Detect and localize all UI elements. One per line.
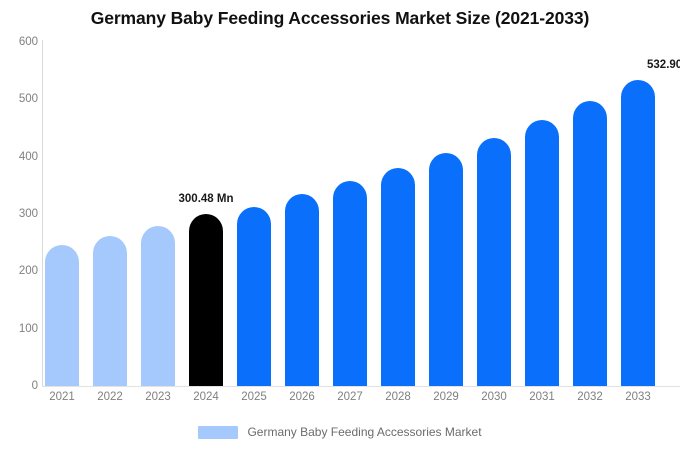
bar-group[interactable] <box>45 42 79 386</box>
legend-swatch-icon <box>198 426 238 439</box>
bar-group[interactable] <box>93 42 127 386</box>
y-axis-tick: 100 <box>4 323 38 335</box>
bar[interactable] <box>285 194 319 386</box>
bar-value-label: 532.90 Mn <box>647 59 680 71</box>
bar-group[interactable] <box>237 42 271 386</box>
chart-container: Germany Baby Feeding Accessories Market … <box>0 0 680 450</box>
y-axis-tick: 600 <box>4 36 38 48</box>
bar[interactable] <box>45 245 79 386</box>
bar[interactable] <box>477 138 511 386</box>
y-axis-tick-labels: 0100200300400500600 <box>0 0 38 450</box>
chart-legend: Germany Baby Feeding Accessories Market <box>0 425 680 439</box>
bar-group[interactable] <box>381 42 415 386</box>
bar-group[interactable] <box>141 42 175 386</box>
bar[interactable] <box>573 101 607 386</box>
bar[interactable] <box>237 207 271 386</box>
bar-value-label: 300.48 Mn <box>179 193 234 205</box>
bar-group[interactable] <box>573 42 607 386</box>
bar[interactable] <box>381 168 415 386</box>
legend-label: Germany Baby Feeding Accessories Market <box>247 425 481 439</box>
y-axis-tick: 300 <box>4 208 38 220</box>
y-axis-tick: 400 <box>4 151 38 163</box>
bar[interactable] <box>525 120 559 386</box>
bar-group[interactable] <box>429 42 463 386</box>
bar-group[interactable]: 532.90 Mn <box>621 42 655 386</box>
bar[interactable] <box>429 153 463 386</box>
bar-group[interactable] <box>477 42 511 386</box>
bar[interactable] <box>621 80 655 386</box>
bar[interactable] <box>141 226 175 386</box>
x-axis-line <box>42 386 680 387</box>
bar-group[interactable] <box>333 42 367 386</box>
x-axis-tick: 2033 <box>608 391 668 403</box>
bar[interactable] <box>189 214 223 386</box>
y-axis-tick: 500 <box>4 93 38 105</box>
chart-title: Germany Baby Feeding Accessories Market … <box>0 8 680 29</box>
bar-group[interactable]: 300.48 Mn <box>189 42 223 386</box>
y-axis-tick: 200 <box>4 265 38 277</box>
plot-area: 300.48 Mn532.90 Mn <box>42 42 680 386</box>
bar-group[interactable] <box>525 42 559 386</box>
bar[interactable] <box>93 236 127 386</box>
bar-group[interactable] <box>285 42 319 386</box>
bar[interactable] <box>333 181 367 386</box>
